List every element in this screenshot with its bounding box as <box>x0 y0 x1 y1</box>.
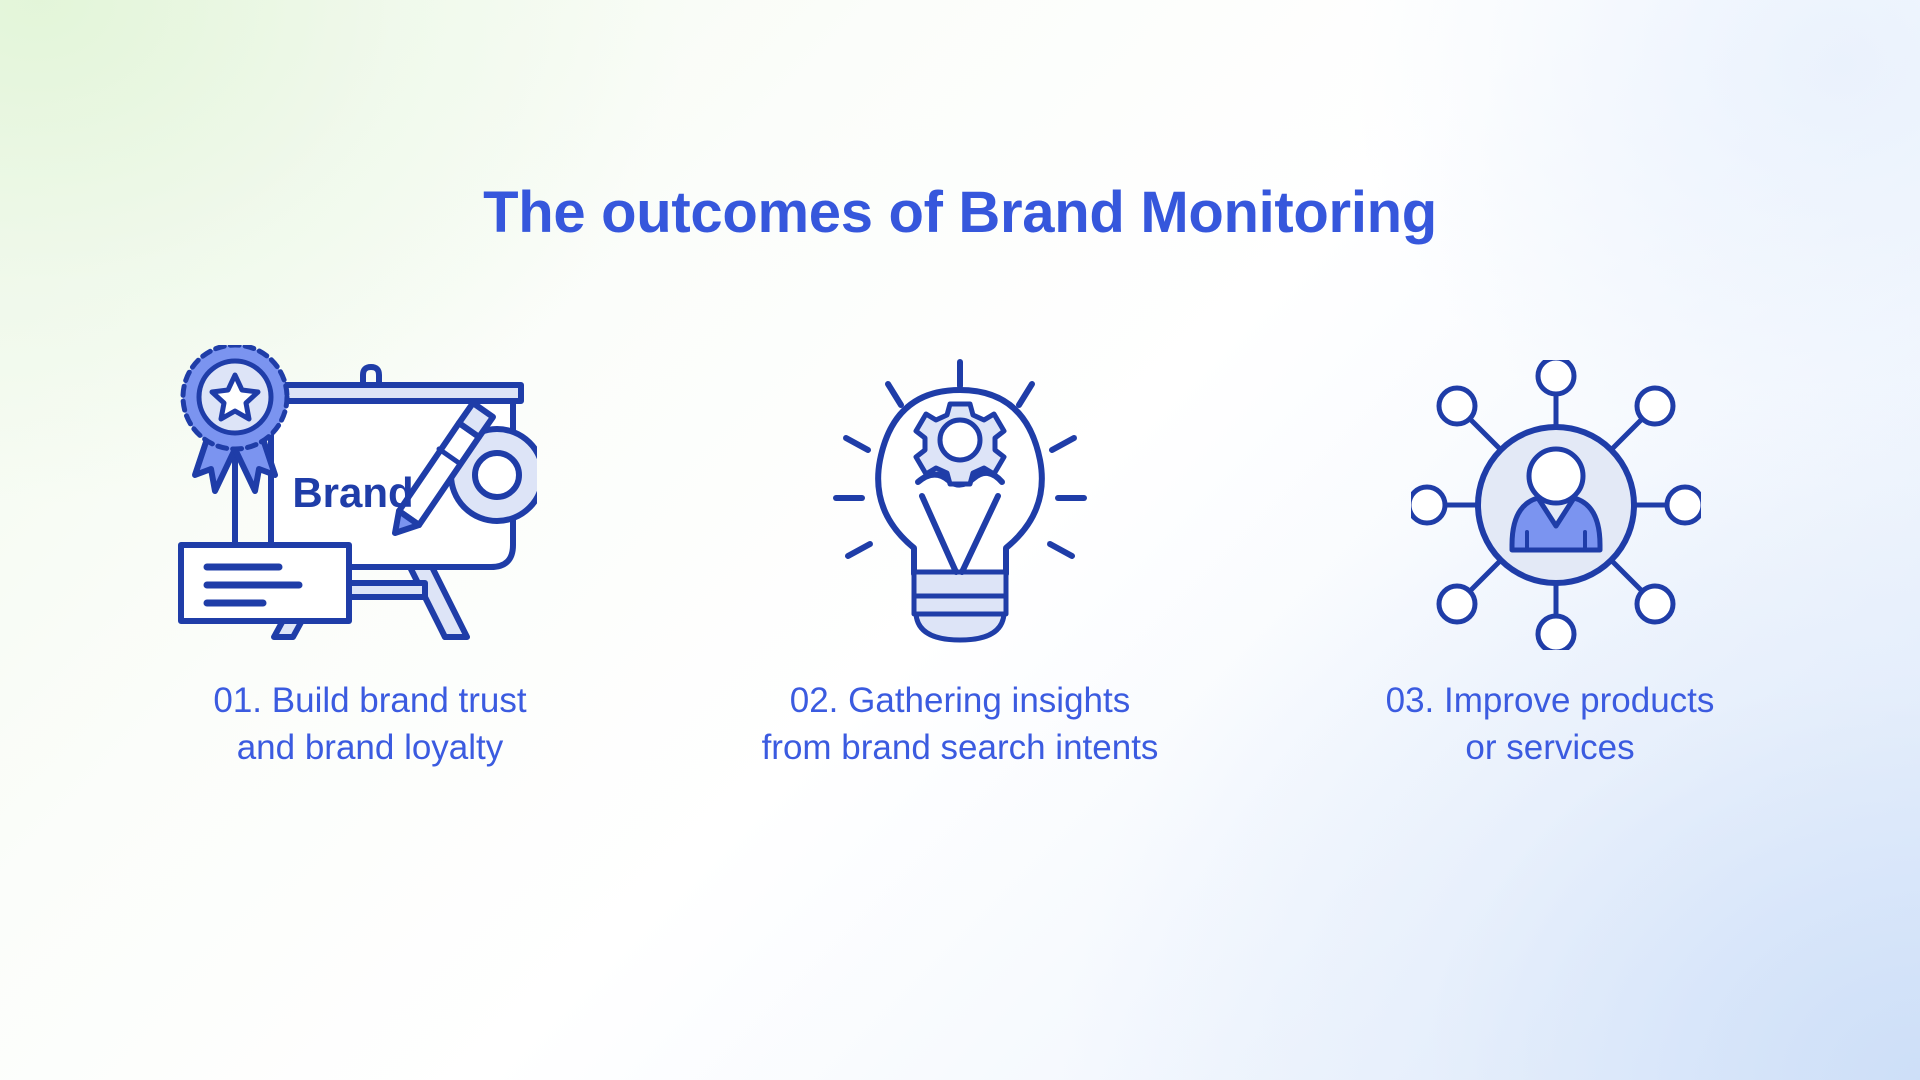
outcome-card-2-caption: 02. Gathering insights from brand search… <box>762 678 1159 771</box>
lightbulb-gear-icon-wrap <box>830 336 1090 666</box>
board-brand-label: Brand <box>292 469 413 516</box>
caption-line-1: 01. Build brand trust <box>213 678 526 725</box>
outcome-card-3-caption: 03. Improve products or services <box>1386 678 1715 771</box>
caption-line-2: from brand search intents <box>762 725 1159 772</box>
easel-brand-board-icon: Brand <box>167 345 537 645</box>
lightbulb-gear-icon <box>830 356 1090 646</box>
network-person-hub-icon-wrap <box>1411 340 1701 670</box>
outcome-card-2: 02. Gathering insights from brand search… <box>680 330 1240 771</box>
network-person-hub-icon <box>1411 360 1701 650</box>
caption-line-1: 03. Improve products <box>1386 678 1715 725</box>
slide-root: The outcomes of Brand Monitoring <box>0 0 1920 1080</box>
outcome-cards-row: Brand 01. Build brand trust and brand lo… <box>90 330 1830 771</box>
caption-line-1: 02. Gathering insights <box>762 678 1159 725</box>
outcome-card-1-caption: 01. Build brand trust and brand loyalty <box>213 678 526 771</box>
caption-line-2: or services <box>1386 725 1715 772</box>
easel-brand-board-icon-wrap: Brand <box>167 330 537 660</box>
page-title: The outcomes of Brand Monitoring <box>0 181 1920 245</box>
outcome-card-3: 03. Improve products or services <box>1270 330 1830 771</box>
caption-line-2: and brand loyalty <box>213 725 526 772</box>
outcome-card-1: Brand 01. Build brand trust and brand lo… <box>90 330 650 771</box>
